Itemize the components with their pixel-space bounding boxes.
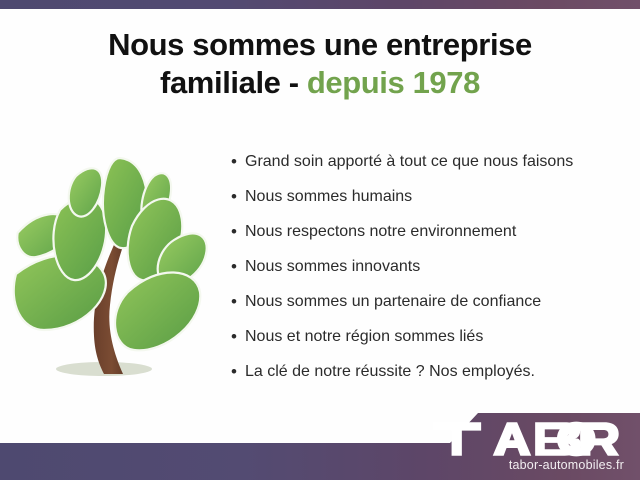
list-item: • Nous et notre région sommes liés [231, 327, 631, 362]
tree-icon [8, 140, 218, 390]
top-accent-bar [0, 0, 640, 9]
list-item-label: Nous sommes humains [245, 187, 412, 207]
list-item-label: Nous sommes innovants [245, 257, 420, 277]
brand-logo[interactable]: tabor-automobiles.fr [431, 421, 624, 472]
page-title-accent: depuis 1978 [307, 65, 480, 100]
list-item-label: Nous et notre région sommes liés [245, 327, 483, 347]
list-item: • Nous sommes un partenaire de confiance [231, 292, 631, 327]
list-item-label: Grand soin apporté à tout ce que nous fa… [245, 152, 573, 172]
bullet-icon: • [231, 187, 245, 207]
footer-bar: tabor-automobiles.fr [0, 405, 640, 480]
page-title-line-2: familiale - depuis 1978 [0, 64, 640, 102]
list-item: • Nous sommes innovants [231, 257, 631, 292]
bullet-icon: • [231, 257, 245, 277]
list-item-label: Nous respectons notre environnement [245, 222, 516, 242]
list-item-label: La clé de notre réussite ? Nos employés. [245, 362, 535, 382]
bullet-icon: • [231, 222, 245, 242]
page-title: Nous sommes une entreprise familiale - d… [0, 26, 640, 102]
list-item: • Nous respectons notre environnement [231, 222, 631, 257]
list-item: • Grand soin apporté à tout ce que nous … [231, 152, 631, 187]
page-title-line-1: Nous sommes une entreprise [0, 26, 640, 64]
benefits-list: • Grand soin apporté à tout ce que nous … [231, 152, 631, 397]
page-title-line-2-prefix: familiale - [160, 65, 307, 100]
list-item-label: Nous sommes un partenaire de confiance [245, 292, 541, 312]
bullet-icon: • [231, 327, 245, 347]
bullet-icon: • [231, 362, 245, 382]
tabor-wordmark-icon [431, 421, 624, 457]
bullet-icon: • [231, 152, 245, 172]
bullet-icon: • [231, 292, 245, 312]
list-item: • La clé de notre réussite ? Nos employé… [231, 362, 631, 397]
list-item: • Nous sommes humains [231, 187, 631, 222]
slide-canvas: Nous sommes une entreprise familiale - d… [0, 0, 640, 480]
brand-url[interactable]: tabor-automobiles.fr [431, 458, 624, 472]
